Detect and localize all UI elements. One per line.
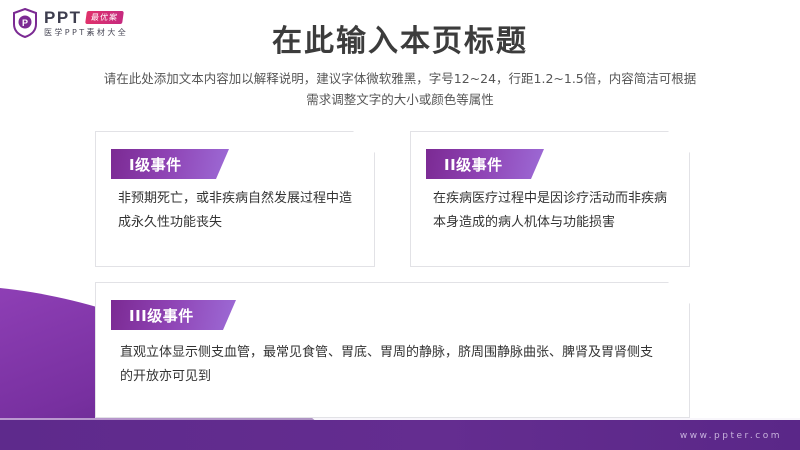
- event-card-level-2[interactable]: II级事件 在疾病医疗过程中是因诊疗活动而非疾病本身造成的病人机体与功能损害: [410, 131, 690, 267]
- slide-canvas: P PPT 最优案 医学PPT素材大全 在此输入本页标题 请在此处添加文本内容加…: [0, 0, 800, 450]
- event-card-body-2: 在疾病医疗过程中是因诊疗活动而非疾病本身造成的病人机体与功能损害: [433, 187, 671, 235]
- event-card-label-2: II级事件: [426, 149, 544, 179]
- event-card-label-1: I级事件: [111, 149, 229, 179]
- footer-url: www.ppter.com: [680, 431, 782, 441]
- event-card-label-3: III级事件: [111, 300, 236, 330]
- page-subtitle: 请在此处添加文本内容加以解释说明，建议字体微软雅黑，字号12~24，行距1.2~…: [100, 68, 700, 110]
- event-card-level-3[interactable]: III级事件 直观立体显示侧支血管，最常见食管、胃底、胃周的静脉，脐周围静脉曲张…: [95, 282, 690, 418]
- event-card-body-3: 直观立体显示侧支血管，最常见食管、胃底、胃周的静脉，脐周围静脉曲张、脾肾及胃肾侧…: [120, 341, 665, 389]
- page-title: 在此输入本页标题: [0, 16, 800, 60]
- event-card-level-1[interactable]: I级事件 非预期死亡，或非疾病自然发展过程中造成永久性功能丧失: [95, 131, 375, 267]
- event-card-body-1: 非预期死亡，或非疾病自然发展过程中造成永久性功能丧失: [118, 187, 356, 235]
